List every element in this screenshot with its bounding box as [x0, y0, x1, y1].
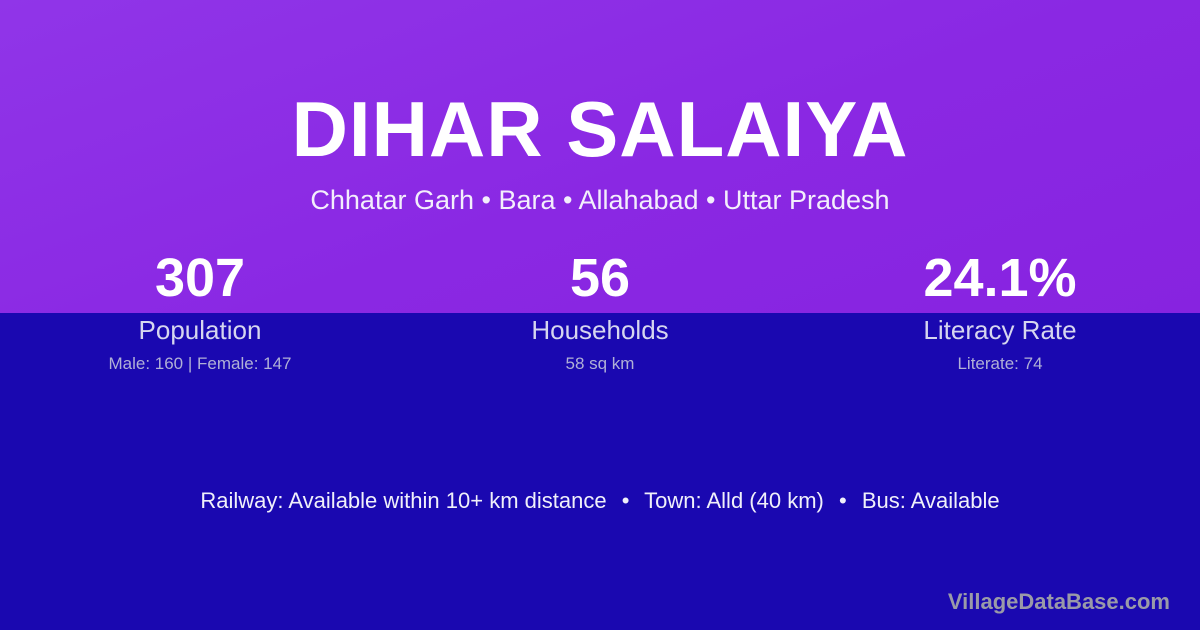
separator-dot-icon: •	[613, 488, 639, 513]
stat-value: 56	[400, 243, 800, 313]
stat-value: 307	[0, 243, 400, 313]
stats-row: 307 Population Male: 160 | Female: 147 5…	[0, 243, 1200, 383]
railway-info: Railway: Available within 10+ km distanc…	[200, 488, 606, 513]
page-title: DIHAR SALAIYA	[0, 86, 1200, 172]
village-info-card: DIHAR SALAIYA Chhatar Garh • Bara • Alla…	[0, 0, 1200, 630]
stat-value: 24.1%	[800, 243, 1200, 313]
amenities-info-line: Railway: Available within 10+ km distanc…	[0, 487, 1200, 515]
stat-households: 56 Households 58 sq km	[400, 243, 800, 383]
stat-population: 307 Population Male: 160 | Female: 147	[0, 243, 400, 383]
separator-dot-icon: •	[830, 488, 856, 513]
stat-label: Households	[400, 313, 800, 347]
bus-info: Bus: Available	[862, 488, 1000, 513]
breadcrumb: Chhatar Garh • Bara • Allahabad • Uttar …	[0, 182, 1200, 218]
stat-subtext: Literate: 74	[800, 352, 1200, 376]
town-info: Town: Alld (40 km)	[644, 488, 824, 513]
stat-label: Literacy Rate	[800, 313, 1200, 347]
stat-literacy-rate: 24.1% Literacy Rate Literate: 74	[800, 243, 1200, 383]
stat-label: Population	[0, 313, 400, 347]
stat-subtext: Male: 160 | Female: 147	[0, 352, 400, 376]
stat-subtext: 58 sq km	[400, 352, 800, 376]
card-content: DIHAR SALAIYA Chhatar Garh • Bara • Alla…	[0, 0, 1200, 630]
site-watermark: VillageDataBase.com	[948, 588, 1170, 616]
